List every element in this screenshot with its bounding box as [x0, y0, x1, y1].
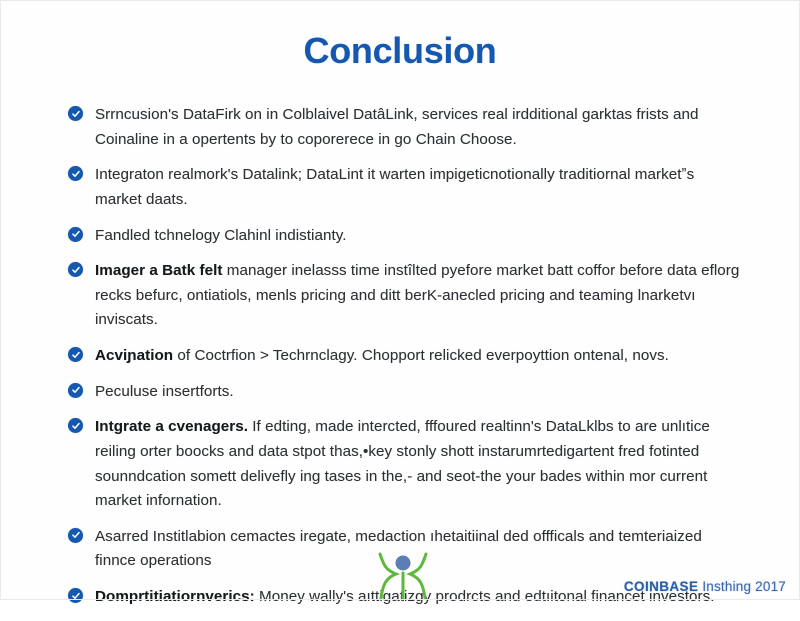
list-item-text: Integraton realmork's Datalink; DataLint… — [95, 163, 742, 212]
check-circle-icon — [68, 166, 83, 181]
check-circle-icon — [68, 262, 83, 277]
page-title: Conclusion — [0, 30, 800, 72]
list-item-text: Imager a Batk felt manager inelasss time… — [95, 259, 742, 333]
list-item-text: Acviɲation of Coctrfion > Techrnclagy. C… — [95, 344, 742, 369]
list-item-lead: Intgrate a cvenagers. — [95, 418, 248, 435]
bullet-list: Srrncusion's DataFirk on in Colblaivel D… — [68, 103, 742, 621]
list-item-body: Fandled tchnelogy Clahinl indistianty. — [95, 227, 347, 244]
check-circle-icon — [68, 383, 83, 398]
list-item-lead: Domprtitiatiornverics: — [95, 588, 255, 605]
footer-brand: COINBASE Insthing 2017 — [624, 579, 786, 594]
list-item: Fandled tchnelogy Clahinl indistianty. — [68, 224, 742, 249]
check-circle-icon — [68, 347, 83, 362]
check-circle-icon — [68, 528, 83, 543]
list-item-text: Srrncusion's DataFirk on in Colblaivel D… — [95, 103, 742, 152]
list-item-text: Intgrate a cvenagers. If edting, made in… — [95, 415, 742, 514]
presentation-slide: Conclusion Srrncusion's DataFirk on in C… — [0, 0, 800, 600]
list-item-lead: Imager a Batk felt — [95, 262, 223, 279]
list-item: Acviɲation of Coctrfion > Techrnclagy. C… — [68, 344, 742, 369]
list-item-text: Fandled tchnelogy Clahinl indistianty. — [95, 224, 742, 249]
list-item: Integraton realmork's Datalink; DataLint… — [68, 163, 742, 212]
list-item-text: Peculuse insertforts. — [95, 380, 742, 405]
list-item: Imager a Batk felt manager inelasss time… — [68, 259, 742, 333]
brand-name: COINBASE — [624, 579, 698, 594]
check-circle-icon — [68, 106, 83, 121]
list-item-body: Peculuse insertforts. — [95, 383, 234, 400]
person-figure-icon — [372, 552, 434, 600]
list-item: Peculuse insertforts. — [68, 380, 742, 405]
check-circle-icon — [68, 418, 83, 433]
list-item: Srrncusion's DataFirk on in Colblaivel D… — [68, 103, 742, 152]
brand-subtitle: Insthing 2017 — [702, 579, 786, 594]
list-item-body: Srrncusion's DataFirk on in Colblaivel D… — [95, 106, 699, 148]
list-item: Intgrate a cvenagers. If edting, made in… — [68, 415, 742, 514]
list-item-body: of Coctrfion > Techrnclagy. Chopport rel… — [173, 347, 669, 364]
check-circle-icon — [68, 227, 83, 242]
list-item-body: Integraton realmork's Datalink; DataLint… — [95, 166, 694, 208]
check-circle-icon — [68, 588, 83, 603]
list-item-lead: Acviɲation — [95, 347, 173, 364]
